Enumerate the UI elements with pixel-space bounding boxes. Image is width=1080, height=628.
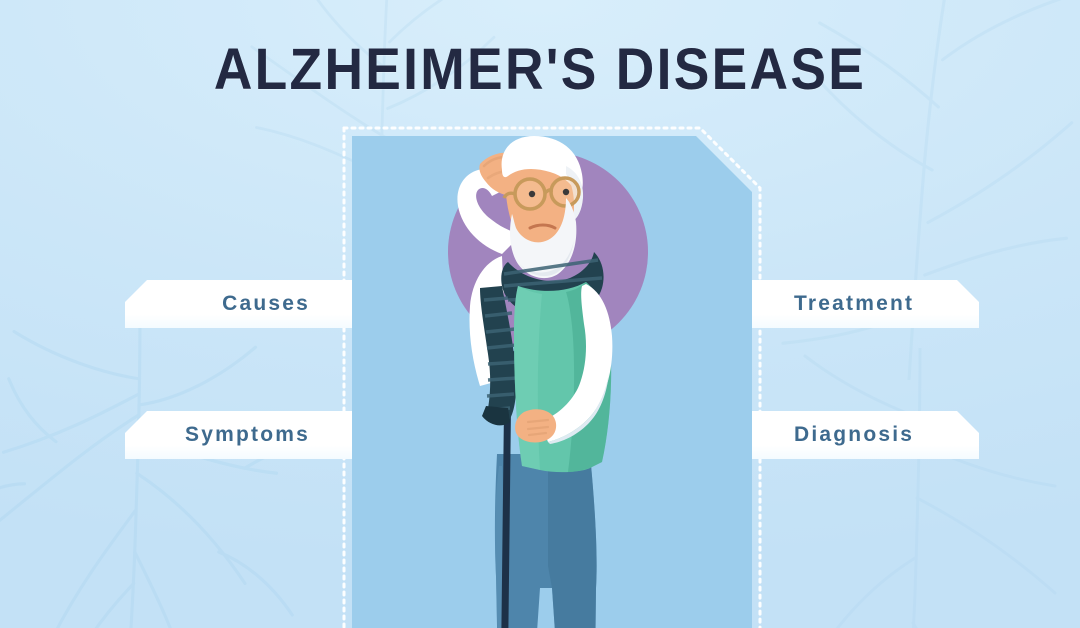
label-text-causes: Causes xyxy=(222,292,310,316)
label-text-symptoms: Symptoms xyxy=(185,423,310,447)
label-text-diagnosis: Diagnosis xyxy=(794,423,914,447)
label-box-symptoms[interactable]: Symptoms xyxy=(125,411,352,459)
elderly-man-illustration xyxy=(352,136,752,628)
label-text-treatment: Treatment xyxy=(794,292,914,316)
illustration-panel xyxy=(352,136,752,628)
hand-on-cane xyxy=(515,409,556,442)
label-box-treatment[interactable]: Treatment xyxy=(752,280,979,328)
trousers-shadow xyxy=(548,454,597,628)
page-title: ALZHEIMER'S DISEASE xyxy=(43,36,1037,103)
label-box-causes[interactable]: Causes xyxy=(125,280,352,328)
label-box-diagnosis[interactable]: Diagnosis xyxy=(752,411,979,459)
